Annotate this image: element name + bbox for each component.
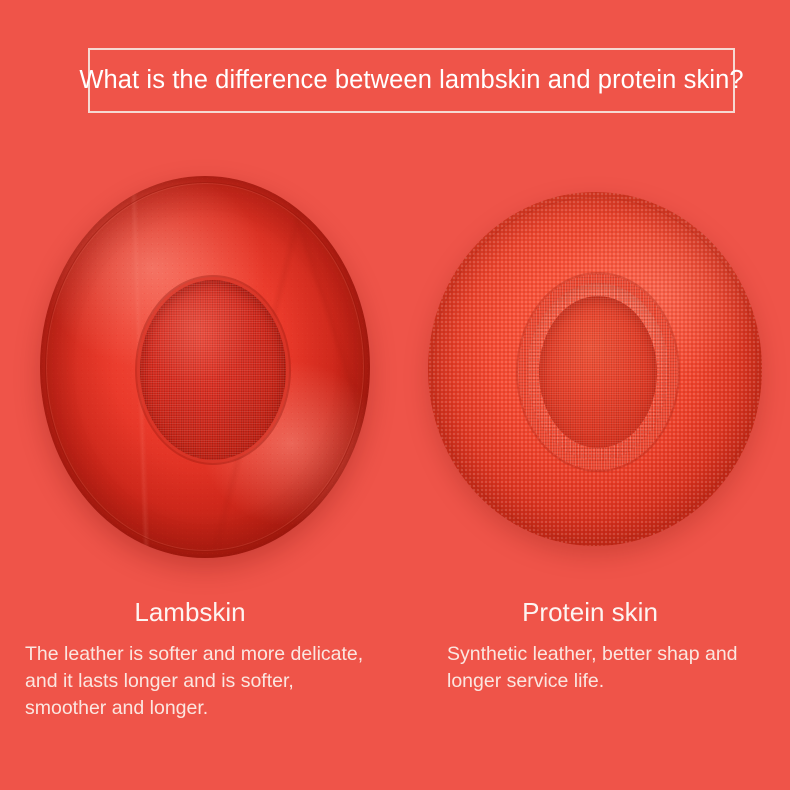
- question-banner: What is the difference between lambskin …: [88, 48, 735, 113]
- lambskin-inner-opening: [140, 280, 286, 460]
- protein-skin-heading: Protein skin: [400, 597, 780, 628]
- protein-skin-description: Synthetic leather, better shap and longe…: [447, 641, 777, 695]
- lambskin-earpad-image: [40, 176, 370, 558]
- lambskin-mesh-sheen: [140, 280, 286, 460]
- product-comparison-infographic: What is the difference between lambskin …: [0, 0, 790, 790]
- protein-skin-inner-opening: [518, 274, 678, 470]
- question-banner-text: What is the difference between lambskin …: [79, 66, 743, 95]
- lambskin-description: The leather is softer and more delicate,…: [25, 641, 425, 722]
- protein-skin-inner-well: [539, 296, 657, 449]
- protein-skin-well-weave: [539, 296, 657, 449]
- lambskin-heading: Lambskin: [0, 597, 380, 628]
- protein-skin-earpad-image: [428, 192, 762, 546]
